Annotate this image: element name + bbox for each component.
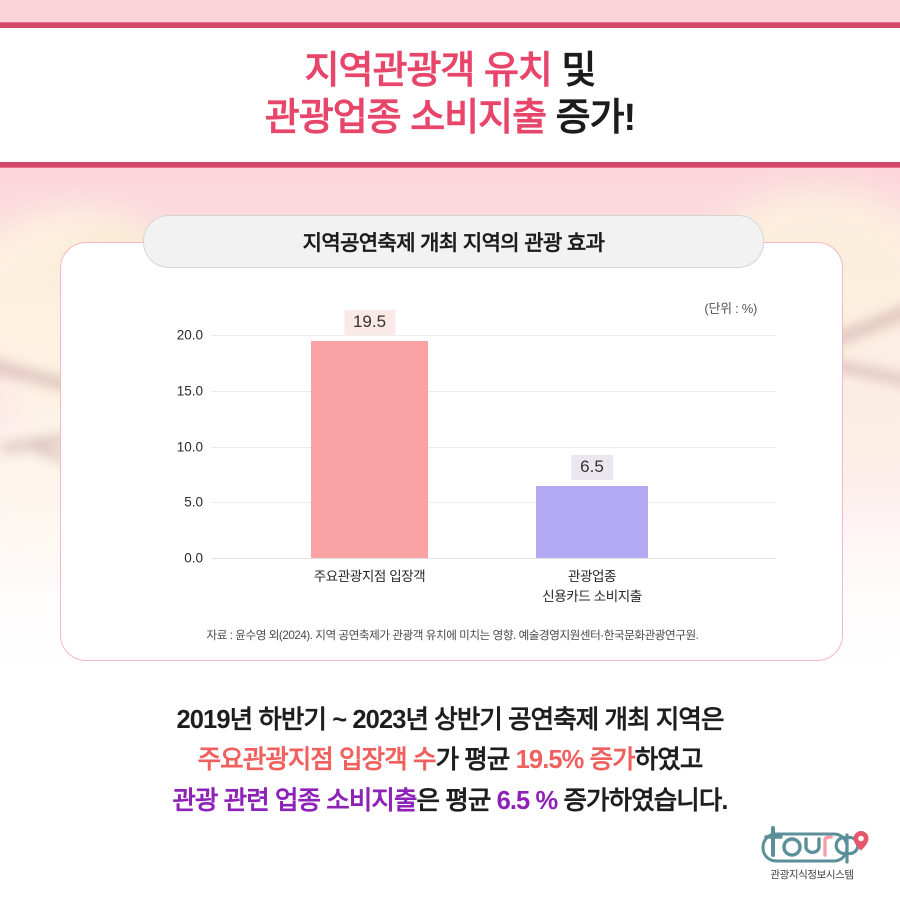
chart-y-tick-label: 20.0 (149, 328, 203, 343)
header-title-area: 지역관광객 유치 및 관광업종 소비지출 증가! (0, 28, 900, 162)
chart-x-axis-label-line: 신용카드 소비지출 (542, 587, 642, 607)
chart-y-tick-label: 5.0 (149, 495, 203, 510)
headline-line-2-pink: 관광업종 소비지출 (265, 97, 546, 139)
chart-title-text: 지역공연축제 개최 지역의 관광 효과 (303, 227, 605, 257)
summary-line-2-end: 하였고 (635, 746, 703, 774)
summary-paragraph: 2019년 하반기 ~ 2023년 상반기 공연축제 개최 지역은 주요관광지점… (0, 700, 900, 821)
chart-x-axis-label: 주요관광지점 입장객 (314, 567, 426, 587)
chart-title-pill: 지역공연축제 개최 지역의 관광 효과 (143, 215, 764, 268)
summary-line-1-text: 2019년 하반기 ~ 2023년 상반기 공연축제 개최 지역은 (176, 706, 723, 734)
summary-highlight-visitors: 주요관광지점 입장객 수 (198, 746, 436, 774)
chart-gridline (211, 447, 776, 448)
header-top-band (0, 0, 900, 22)
summary-highlight-spending: 관광 관련 업종 소비지출 (172, 787, 416, 815)
tourgo-logo-icon (753, 825, 871, 865)
chart-gridline (211, 391, 776, 392)
chart-gridline (211, 502, 776, 503)
chart-value-label: 6.5 (571, 455, 613, 480)
header-banner: 지역관광객 유치 및 관광업종 소비지출 증가! (0, 0, 900, 168)
summary-line-3: 관광 관련 업종 소비지출은 평균 6.5 % 증가하였습니다. (0, 781, 900, 821)
summary-line-1: 2019년 하반기 ~ 2023년 상반기 공연축제 개최 지역은 (0, 700, 900, 740)
chart-gridline (211, 558, 776, 559)
chart-y-tick-label: 10.0 (149, 439, 203, 454)
chart-card: 지역공연축제 개최 지역의 관광 효과 (단위 : %) 20.015.010.… (60, 242, 843, 661)
headline-line-2-black: 증가! (556, 97, 636, 139)
header-bottom-rule (0, 162, 900, 168)
headline-line-1: 지역관광객 유치 및 (305, 50, 596, 93)
chart-plot-area: 20.015.010.05.00.019.5주요관광지점 입장객6.5관광업종신… (61, 243, 844, 662)
summary-highlight-19-5: 19.5% 증가 (516, 746, 635, 774)
headline-line-1-black: 및 (561, 50, 595, 92)
chart-value-label: 19.5 (344, 310, 395, 335)
chart-bar[interactable] (311, 341, 428, 558)
site-logo[interactable]: 관광지식정보시스템 (746, 825, 878, 882)
summary-highlight-6-5: 6.5 % (497, 787, 558, 815)
headline-line-1-pink: 지역관광객 유치 (305, 50, 552, 92)
chart-x-axis-label-line: 관광업종 (542, 567, 642, 587)
infographic-page: 지역관광객 유치 및 관광업종 소비지출 증가! 지역공연축제 개최 지역의 관… (0, 0, 900, 900)
logo-caption: 관광지식정보시스템 (746, 867, 878, 882)
headline-line-2: 관광업종 소비지출 증가! (265, 97, 635, 140)
chart-source-note: 자료 : 윤수영 외(2024). 지역 공연축제가 관광객 유치에 미치는 영… (61, 627, 844, 643)
chart-y-tick-label: 0.0 (149, 551, 203, 566)
chart-y-tick-label: 15.0 (149, 383, 203, 398)
summary-line-3-end: 증가하였습니다. (557, 787, 727, 815)
chart-x-axis-label-line: 주요관광지점 입장객 (314, 567, 426, 587)
summary-line-2: 주요관광지점 입장객 수가 평균 19.5% 증가하였고 (0, 740, 900, 780)
chart-bar[interactable] (536, 486, 648, 558)
chart-x-axis-label: 관광업종신용카드 소비지출 (542, 567, 642, 606)
summary-line-3-mid: 은 평균 (417, 787, 497, 815)
chart-gridline (211, 335, 776, 336)
summary-line-2-mid: 가 평균 (436, 746, 516, 774)
